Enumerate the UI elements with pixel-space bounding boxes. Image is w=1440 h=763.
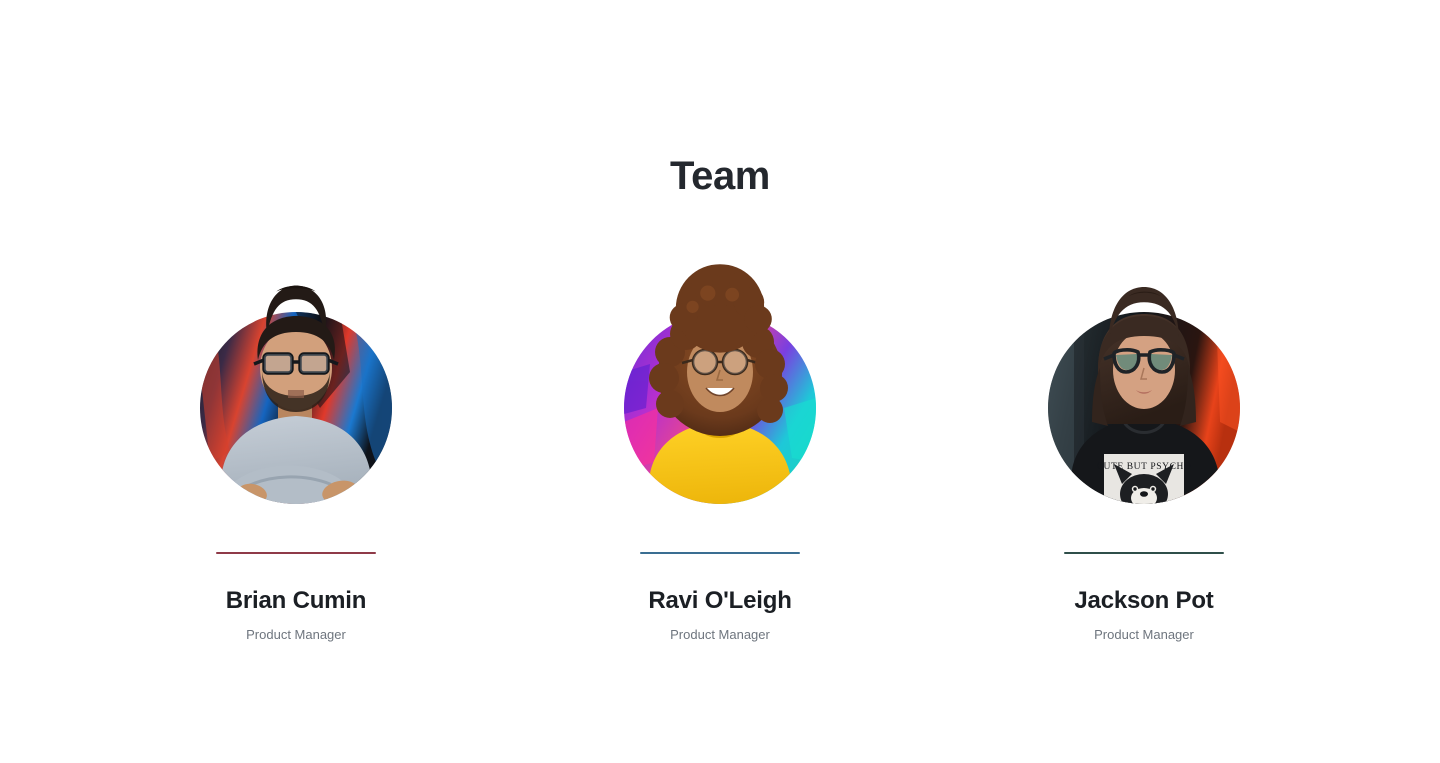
avatar-photo [200,312,392,504]
team-page: Team [0,0,1440,763]
member-role: Product Manager [1094,626,1194,644]
avatar-clip [624,312,816,504]
avatar-photo [624,312,816,504]
member-name: Ravi O'Leigh [648,586,791,616]
shirt-print-text: CUTE BUT PSYCHO [1097,462,1192,472]
member-role: Product Manager [670,626,770,644]
avatar-jackson-pot[interactable]: CUTE BUT PSYCHO [1048,312,1240,504]
member-name: Jackson Pot [1074,586,1213,616]
team-member-card[interactable]: Brian Cumin Product Manager [84,252,508,644]
member-role: Product Manager [246,626,346,644]
team-member-card[interactable]: CUTE BUT PSYCHO [932,252,1356,644]
avatar-clip: CUTE BUT PSYCHO [1048,312,1240,504]
member-name: Brian Cumin [226,586,366,616]
team-member-list: Brian Cumin Product Manager [0,252,1440,644]
member-divider [216,552,376,554]
member-divider [1064,552,1224,554]
team-member-card[interactable]: Ravi O'Leigh Product Manager [508,252,932,644]
page-title: Team [0,147,1440,205]
member-divider [640,552,800,554]
avatar-brian-cumin[interactable] [200,312,392,504]
avatar-clip [200,312,392,504]
avatar-ravi-oleigh[interactable] [624,312,816,504]
avatar-photo: CUTE BUT PSYCHO [1048,312,1240,504]
